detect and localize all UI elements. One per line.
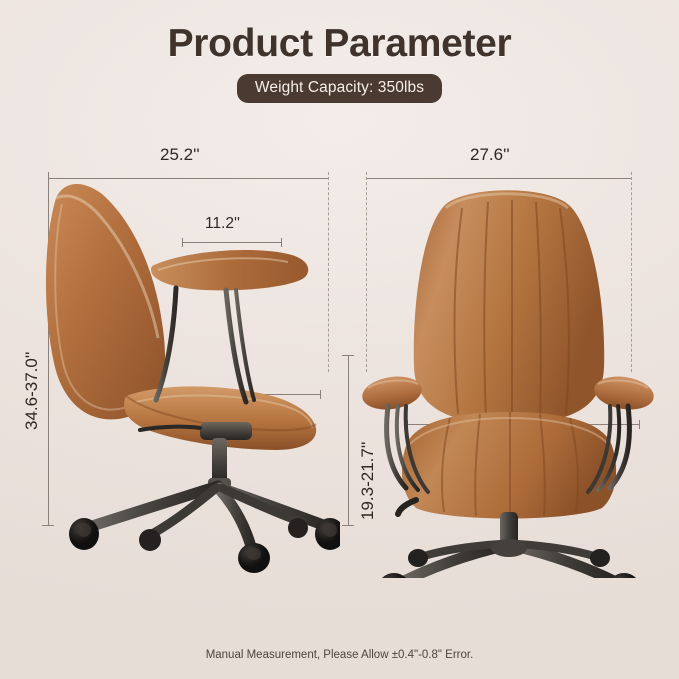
chair-front-view xyxy=(358,178,658,578)
product-parameter-page: Product Parameter Weight Capacity: 350lb… xyxy=(0,0,679,679)
front-base-hub xyxy=(491,539,527,557)
weight-capacity-badge: Weight Capacity: 350lbs xyxy=(237,74,442,103)
chair-side-view xyxy=(40,178,340,578)
measurement-note: Manual Measurement, Please Allow ±0.4"-0… xyxy=(0,649,679,661)
left-height-label: 34.6-37.0'' xyxy=(22,352,42,430)
side-gas-cylinder xyxy=(212,438,227,484)
seat-height-line xyxy=(348,355,349,525)
side-tilt-mechanism xyxy=(200,422,252,440)
left-width-label: 25.2'' xyxy=(160,145,200,165)
side-casters xyxy=(69,518,340,573)
page-title: Product Parameter xyxy=(0,22,679,66)
seat-height-tick-top xyxy=(342,355,354,356)
seat-height-tick-bottom xyxy=(342,525,354,526)
side-base-legs xyxy=(92,486,326,550)
front-backrest xyxy=(414,190,604,424)
weight-capacity-badge-wrap: Weight Capacity: 350lbs xyxy=(0,74,679,103)
front-armrest-left xyxy=(360,373,424,414)
right-width-label: 27.6'' xyxy=(470,145,510,165)
side-armrest-pad xyxy=(151,250,308,290)
front-tilt-lever xyxy=(398,500,416,514)
